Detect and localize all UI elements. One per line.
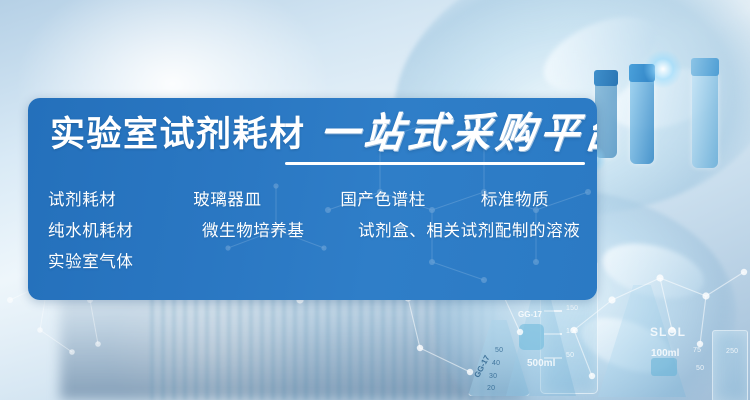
headline-title-row: 实验室试剂耗材 一站式采购平台 [50,114,597,153]
category-reagent-consumables[interactable]: 试剂耗材 [38,186,193,210]
flask-left-grad-30: 30 [489,373,497,380]
category-water-purifier-consumables[interactable]: 纯水机耗材 [38,217,202,241]
category-list: 试剂耗材 玻璃器皿 国产色谱柱 标准物质 纯水机耗材 微生物培养基 试剂盒、相关… [38,186,594,279]
cylinder-grad-250: 250 [726,348,738,355]
headline-title-main: 实验室试剂耗材 [50,118,306,153]
category-glassware[interactable]: 玻璃器皿 [193,186,340,210]
category-row-3: 实验室气体 [38,248,594,279]
category-row-2: 纯水机耗材 微生物培养基 试剂盒、相关试剂配制的溶液 [38,217,594,248]
beaker-grad-50: 50 [566,352,574,359]
flask-left-grad-20: 20 [487,385,495,392]
beaker-grad-100: 100 [566,328,578,335]
graduated-cylinder-right [712,330,748,400]
category-reference-materials[interactable]: 标准物质 [481,186,594,210]
category-laboratory-gases[interactable]: 实验室气体 [38,248,202,272]
headline-underline-rule [285,162,585,165]
headline-panel: 实验室试剂耗材 一站式采购平台 试剂耗材 玻璃器皿 国产色谱柱 标准物质 纯水机… [28,98,597,300]
cryo-vial-left-cap [594,70,618,86]
cryo-vial-right [692,72,718,168]
headline-title-brush: 一站式采购平台 [317,113,597,154]
flask-right-grad-75: 75 [693,347,701,354]
beaker-volume-label: 500ml [527,358,555,369]
banner-root: 250 APPROX 200 150 100 50 GG-17 50 40 30… [0,0,750,400]
category-kits-and-prepared-solutions[interactable]: 试剂盒、相关试剂配制的溶液 [358,217,580,241]
flask-left-grad-50: 50 [495,347,503,354]
flask-mid-brand: GG-17 [518,310,542,319]
flask-right-grad-50: 50 [696,365,704,372]
cryo-vial-right-cap [691,58,719,76]
flask-left-grad-40: 40 [492,360,500,367]
beaker-grad-150: 150 [566,305,578,312]
beaker-frosted-patch [519,324,544,350]
vial-light-glow-1 [636,42,690,96]
category-domestic-chromatography-column[interactable]: 国产色谱柱 [340,186,481,210]
flask-right-frosted-patch [651,358,677,376]
flask-right-brand: SLOL [650,325,686,339]
category-microbial-culture-media[interactable]: 微生物培养基 [202,217,358,241]
category-row-1: 试剂耗材 玻璃器皿 国产色谱柱 标准物质 [38,186,594,217]
